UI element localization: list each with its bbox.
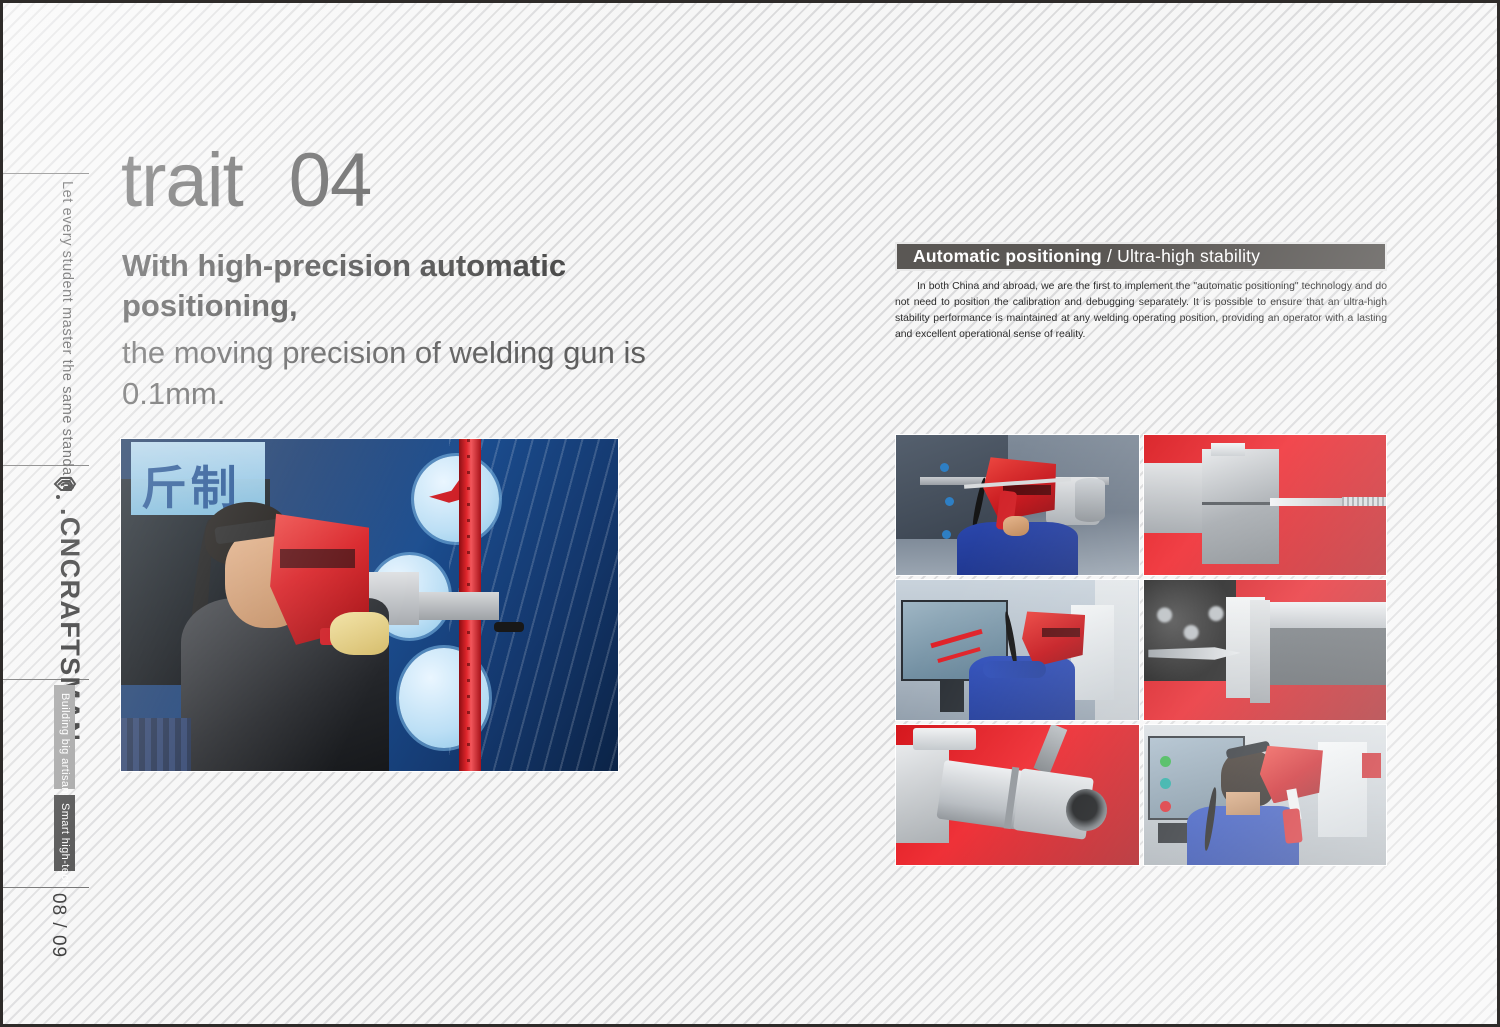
headline-light: the moving precision of welding gun is 0… xyxy=(122,332,682,414)
chip-building-big-artisans: Building big artisans xyxy=(54,685,75,789)
pipe-fixture-weld-photo xyxy=(896,725,1139,865)
welder-profile-panel-photo xyxy=(1144,725,1387,865)
t-joint-fixture-photo xyxy=(1144,580,1387,720)
section-header-light: / Ultra-high stability xyxy=(1102,246,1260,266)
trait-number: 04 xyxy=(289,138,372,223)
trait-word: trait xyxy=(121,138,243,223)
left-sidebar: Let every student master the same standa… xyxy=(3,3,99,1024)
section-header-bar: Automatic positioning / Ultra-high stabi… xyxy=(895,242,1387,271)
hexagon-swirl-logo-icon xyxy=(48,473,80,505)
sidebar-divider-bottom xyxy=(3,887,89,888)
welder-with-pipe-photo xyxy=(896,435,1139,575)
body-text-content: In both China and abroad, we are the fir… xyxy=(895,281,1387,340)
photo-gallery-grid xyxy=(896,435,1386,865)
page-title: trait04 xyxy=(121,137,371,224)
page-number: 08 / 09 xyxy=(47,893,69,958)
section-body-text: In both China and abroad, we are the fir… xyxy=(895,279,1387,344)
plate-joint-weld-photo xyxy=(1144,435,1387,575)
section-header-strong: Automatic positioning xyxy=(913,246,1102,266)
sidebar-divider-mid xyxy=(3,465,89,466)
welding-student-photo: 斤 制 xyxy=(121,439,618,771)
brochure-page: Let every student master the same standa… xyxy=(0,0,1500,1027)
headline-bold: With high-precision automatic positionin… xyxy=(122,246,682,325)
monitor-simulation-welder-photo xyxy=(896,580,1139,720)
chip-smart-high-tech: Smart high-tech xyxy=(54,795,75,871)
sidebar-divider-top xyxy=(3,173,89,174)
sidebar-tagline: Let every student master the same standa… xyxy=(59,181,75,490)
